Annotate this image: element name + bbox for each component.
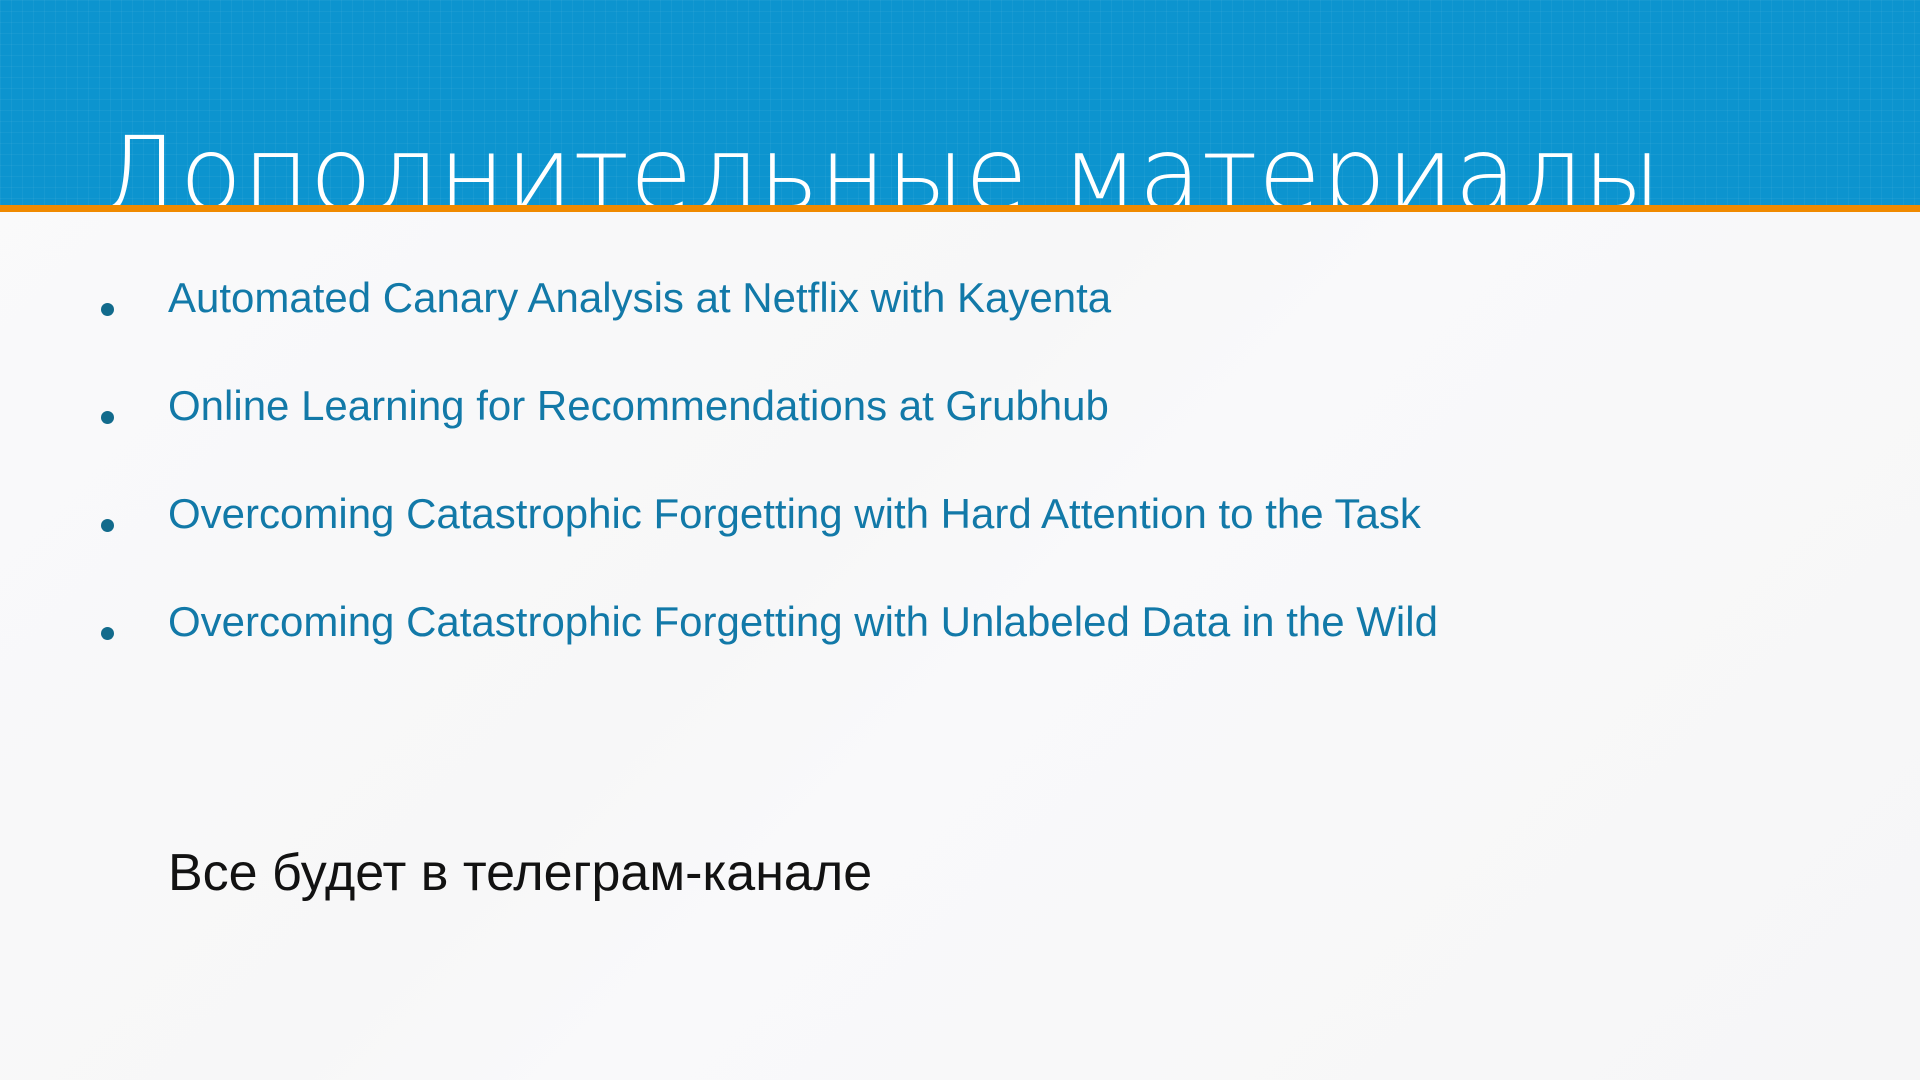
bullet-dot-icon (101, 627, 114, 640)
bullet-dot-icon (101, 519, 114, 532)
footer-note: Все будет в телеграм-канале (168, 845, 872, 902)
header-accent-rule (0, 205, 1920, 212)
bullet-dot-icon (101, 411, 114, 424)
list-item: Online Learning for Recommendations at G… (0, 370, 1920, 478)
bullet-list: Automated Canary Analysis at Netflix wit… (0, 262, 1920, 694)
slide-header-band: Дополнительные материалы (0, 0, 1920, 205)
slide-root: Дополнительные материалы Automated Canar… (0, 0, 1920, 1080)
list-item: Overcoming Catastrophic Forgetting with … (0, 478, 1920, 586)
slide-title: Дополнительные материалы (100, 118, 1662, 205)
bullet-dot-icon (101, 303, 114, 316)
list-item-label: Online Learning for Recommendations at G… (168, 383, 1109, 429)
list-item-label: Automated Canary Analysis at Netflix wit… (168, 275, 1111, 321)
list-item: Overcoming Catastrophic Forgetting with … (0, 586, 1920, 694)
list-item: Automated Canary Analysis at Netflix wit… (0, 262, 1920, 370)
list-item-label: Overcoming Catastrophic Forgetting with … (168, 491, 1421, 537)
list-item-label: Overcoming Catastrophic Forgetting with … (168, 599, 1438, 645)
